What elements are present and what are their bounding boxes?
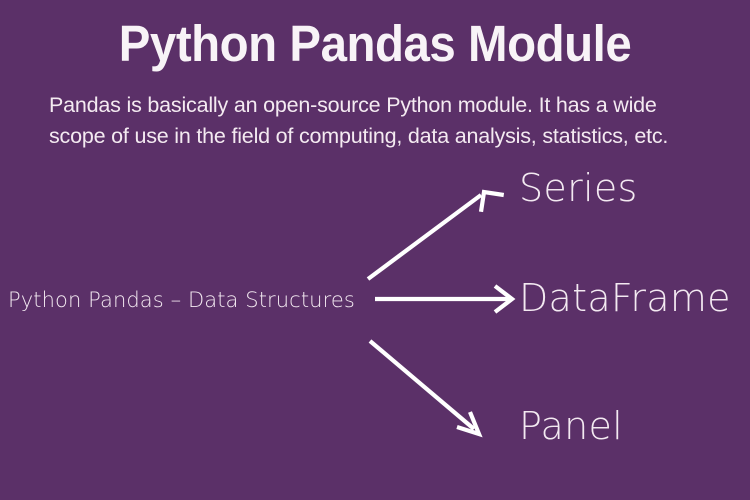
slide-canvas: Python Pandas Module Pandas is basically… <box>0 0 750 500</box>
diagram-root-label: Python Pandas – Data Structures <box>8 286 355 314</box>
diagram-arrows <box>0 0 750 500</box>
arrow-up-right-icon <box>368 192 504 279</box>
arrow-down-right-icon <box>370 341 479 434</box>
data-structures-diagram: Python Pandas – Data Structures Series D… <box>0 0 750 500</box>
diagram-leaf-dataframe: DataFrame <box>519 276 731 320</box>
diagram-leaf-panel: Panel <box>519 404 623 448</box>
diagram-leaf-series: Series <box>519 166 638 210</box>
arrow-right-icon <box>375 286 512 312</box>
